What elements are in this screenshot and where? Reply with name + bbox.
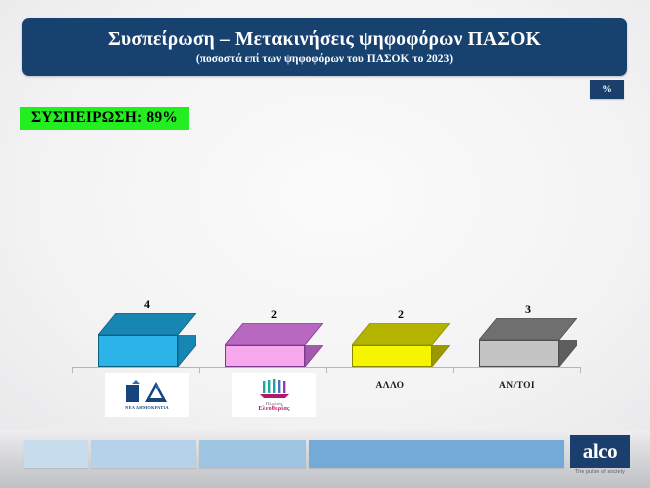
category-label-nd: ΝΕΑ ΔΗΜΟΚΡΑΤΙΑ bbox=[105, 373, 189, 417]
bar-top-face bbox=[479, 318, 577, 340]
footer-block-4 bbox=[309, 440, 564, 468]
bar-side-face bbox=[178, 335, 196, 367]
page-subtitle: (ποσοστά επί των ψηφοφόρων του ΠΑΣΟΚ το … bbox=[196, 53, 453, 65]
cohesion-callout: ΣΥΣΠΕΙΡΩΣΗ: 89% bbox=[20, 107, 189, 130]
title-bar: Συσπείρωση – Μετακινήσεις ψηφοφόρων ΠΑΣΟ… bbox=[22, 18, 627, 76]
slide-root: Συσπείρωση – Μετακινήσεις ψηφοφόρων ΠΑΣΟ… bbox=[0, 0, 650, 488]
bar-front-face bbox=[352, 345, 432, 367]
bar-front-face bbox=[98, 335, 178, 367]
axis-tick bbox=[326, 367, 327, 373]
chart-plot-area: 4 2 bbox=[0, 140, 650, 430]
bar-value-label: 2 bbox=[352, 307, 450, 322]
bar-top-face bbox=[98, 313, 196, 335]
alco-logo-text: alco bbox=[583, 441, 618, 462]
bar-side-face bbox=[559, 340, 577, 367]
alco-logo: alco bbox=[570, 435, 630, 468]
category-label-antoi: ΑΝ/ΤΟΙ bbox=[457, 381, 577, 391]
page-title: Συσπείρωση – Μετακινήσεις ψηφοφόρων ΠΑΣΟ… bbox=[108, 29, 541, 50]
sailing-ship-icon bbox=[256, 379, 292, 399]
bar-side-face bbox=[305, 345, 323, 367]
bar-value-label: 2 bbox=[225, 307, 323, 322]
alco-tagline: The pulse of society bbox=[570, 469, 630, 475]
bar-value-label: 4 bbox=[98, 297, 196, 312]
bar-value-label: 3 bbox=[479, 302, 577, 317]
bar-front-face bbox=[479, 340, 559, 367]
axis-tick bbox=[580, 367, 581, 373]
category-label-allo: ΑΛΛΟ bbox=[330, 381, 450, 391]
bar-side-face bbox=[432, 345, 450, 367]
nea-dimokratia-icon bbox=[123, 380, 171, 404]
bar-top-face bbox=[352, 323, 450, 345]
percent-unit-badge: % bbox=[590, 80, 624, 99]
footer-block-2 bbox=[91, 440, 196, 468]
footer-block-3 bbox=[199, 440, 306, 468]
pleusi-caption-bottom: Ελευθερίας bbox=[258, 406, 289, 412]
bar-front-face bbox=[225, 345, 305, 367]
axis-tick bbox=[199, 367, 200, 373]
axis-tick bbox=[72, 367, 73, 373]
category-label-pleusi-eleftherias: Πλεύση Ελευθερίας bbox=[232, 373, 316, 417]
footer-bar bbox=[0, 430, 650, 488]
axis-tick bbox=[453, 367, 454, 373]
nea-dimokratia-caption: ΝΕΑ ΔΗΜΟΚΡΑΤΙΑ bbox=[125, 405, 169, 410]
footer-block-1 bbox=[24, 440, 88, 468]
bar-top-face bbox=[225, 323, 323, 345]
